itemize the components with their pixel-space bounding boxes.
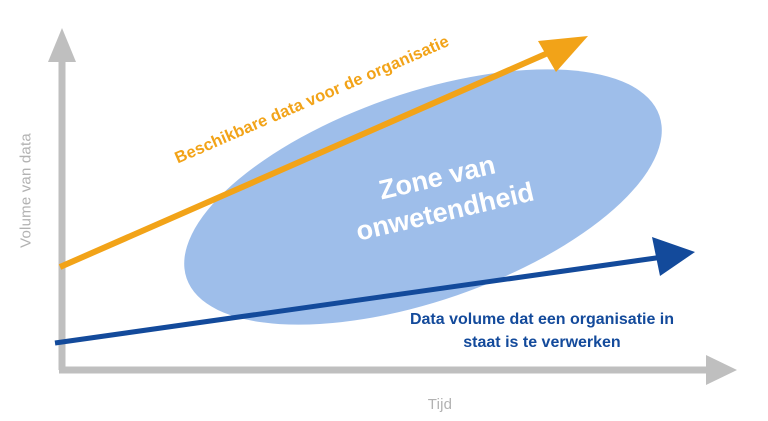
x-axis-label: Tijd (390, 396, 490, 413)
diagram-canvas: Volume van data Tijd Beschikbare data vo… (0, 0, 768, 421)
processable-data-label: Data volume dat een organisatie in staat… (382, 308, 702, 354)
processable-data-label-line-2: staat is te verwerken (382, 331, 702, 354)
arrow-right-icon (652, 237, 695, 276)
processable-data-label-line-1: Data volume dat een organisatie in (382, 308, 702, 331)
arrow-up-icon (48, 28, 76, 62)
arrow-right-icon (706, 355, 737, 385)
y-axis-label: Volume van data (18, 121, 35, 261)
